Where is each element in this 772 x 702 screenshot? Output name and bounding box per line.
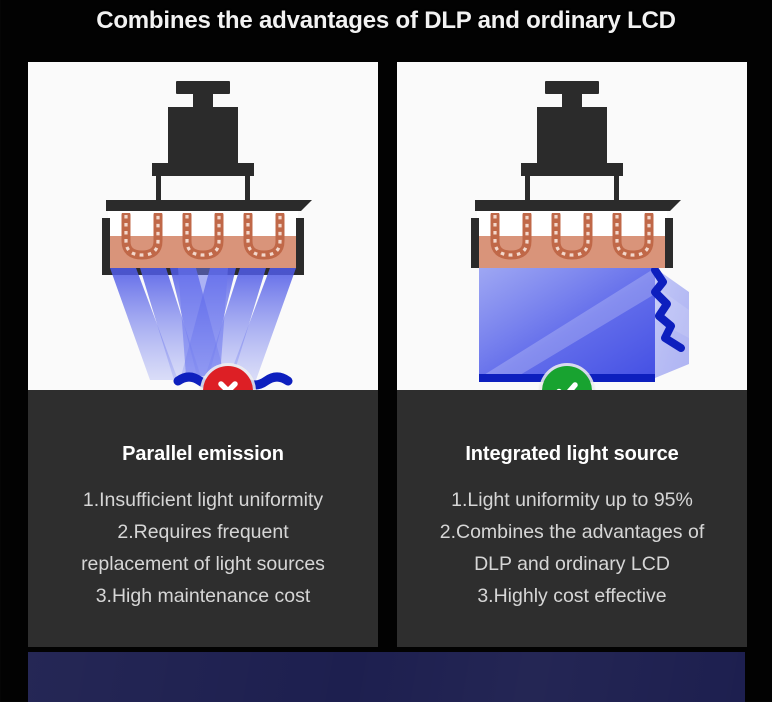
lamp-coil-icon	[181, 213, 225, 261]
text-block-parallel-emission: Parallel emission 1.Insufficient light u…	[28, 390, 378, 647]
bullet-item: 1.Insufficient light uniformity	[42, 484, 364, 516]
bullet-item: DLP and ordinary LCD	[411, 548, 733, 580]
projector-plate-icon	[475, 200, 670, 211]
lamp-box-left	[108, 211, 298, 268]
infographic-stage: Combines the advantages of DLP and ordin…	[0, 0, 772, 702]
panel-bullets: 1.Light uniformity up to 95% 2.Combines …	[397, 466, 747, 612]
projector-body-icon	[168, 107, 238, 165]
lamp-coil-icon	[611, 213, 655, 261]
bullet-item: 2.Combines the advantages of	[411, 516, 733, 548]
page-title: Combines the advantages of DLP and ordin…	[0, 6, 772, 36]
band-sheen	[28, 652, 745, 702]
panel-subtitle: Parallel emission	[28, 390, 378, 466]
panel-integrated-light-source: Integrated light source 1.Light uniformi…	[397, 62, 747, 647]
lamp-box-side-right-icon	[665, 218, 673, 268]
bullet-item: 3.High maintenance cost	[42, 580, 364, 612]
cross-icon	[215, 378, 241, 390]
bullet-item: 3.Highly cost effective	[411, 580, 733, 612]
panel-parallel-emission: Parallel emission 1.Insufficient light u…	[28, 62, 378, 647]
illustration-parallel-emission	[28, 62, 378, 390]
lamp-box-right	[477, 211, 667, 268]
projector-leg-left-icon	[156, 175, 161, 202]
projector-assembly-right	[397, 62, 747, 262]
bullet-item: 2.Requires frequent	[42, 516, 364, 548]
projector-leg-right-icon	[245, 175, 250, 202]
lamp-box-side-left-icon	[102, 218, 110, 268]
panel-bullets: 1.Insufficient light uniformity 2.Requir…	[28, 466, 378, 612]
lamp-box-side-left-icon	[471, 218, 479, 268]
lamp-coil-icon	[242, 213, 286, 261]
projector-assembly-left	[28, 62, 378, 262]
check-icon	[553, 377, 581, 390]
projector-flange-icon	[521, 163, 623, 176]
panel-subtitle: Integrated light source	[397, 390, 747, 466]
lamp-coil-icon	[120, 213, 164, 261]
illustration-integrated-light-source	[397, 62, 747, 390]
projector-plate-icon	[106, 200, 301, 211]
projector-body-icon	[537, 107, 607, 165]
projector-leg-right-icon	[614, 175, 619, 202]
bullet-item: 1.Light uniformity up to 95%	[411, 484, 733, 516]
lamp-box-side-right-icon	[296, 218, 304, 268]
lamp-coil-icon	[550, 213, 594, 261]
text-block-integrated-light-source: Integrated light source 1.Light uniformi…	[397, 390, 747, 647]
projector-flange-icon	[152, 163, 254, 176]
bottom-accent-band	[28, 652, 745, 702]
lamp-coil-icon	[489, 213, 533, 261]
projector-leg-left-icon	[525, 175, 530, 202]
bullet-item: replacement of light sources	[42, 548, 364, 580]
